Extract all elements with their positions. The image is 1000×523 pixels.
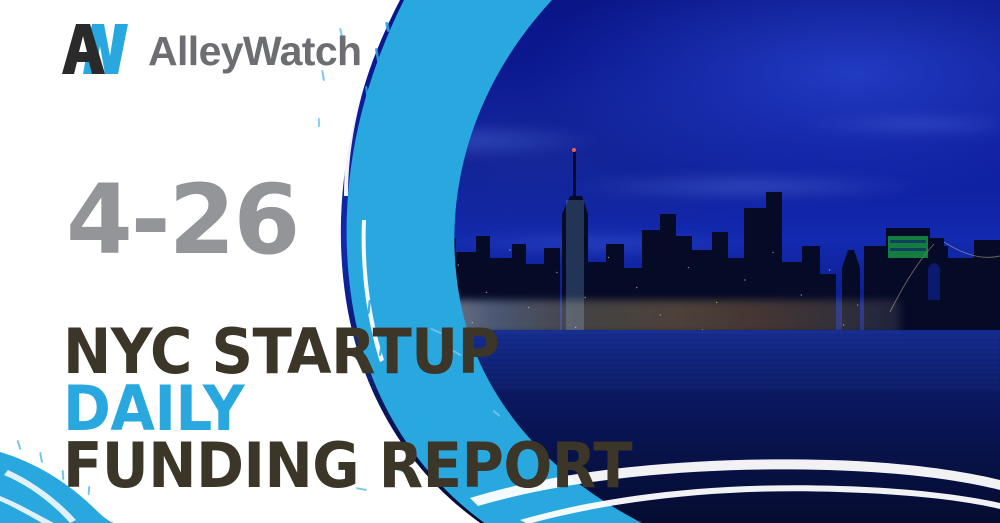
headline-line-3: FUNDING REPORT xyxy=(63,437,632,494)
funding-report-banner: AlleyWatch 4-26 NYC STARTUP DAILY FUNDIN… xyxy=(0,0,1000,523)
aw-monogram-icon xyxy=(62,18,140,80)
headline-block: NYC STARTUP DAILY FUNDING REPORT xyxy=(63,323,675,494)
report-date: 4-26 xyxy=(66,172,298,268)
alleywatch-wordmark: AlleyWatch xyxy=(148,31,361,72)
alleywatch-logo[interactable]: AlleyWatch xyxy=(62,18,361,80)
